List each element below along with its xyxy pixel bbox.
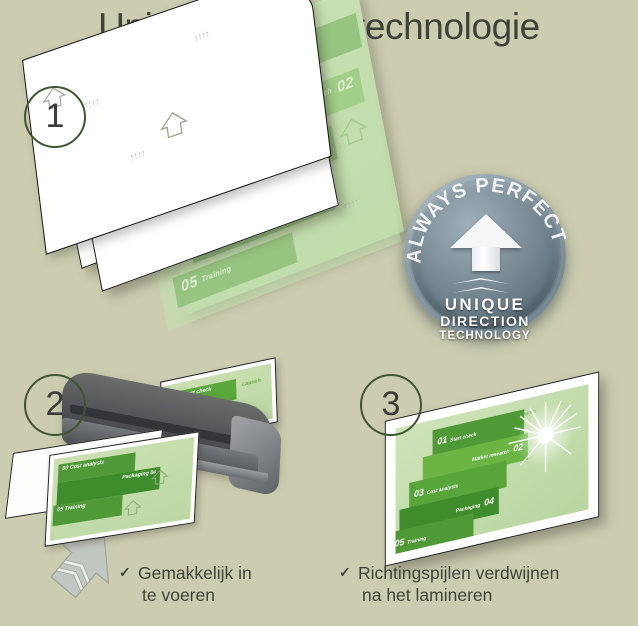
up-arrow-outline-icon — [151, 467, 170, 486]
task-label: Cost analysis — [427, 483, 458, 496]
up-arrow-outline-icon — [123, 498, 142, 517]
step-number-1: 1 — [24, 86, 86, 148]
direction-arrow-mark: ↑↑↑↑ — [342, 197, 359, 214]
arrow-head — [450, 214, 522, 248]
task-label: Training — [201, 264, 232, 284]
infographic-stage: Unieke richtingstechnologie Launch 01Sta… — [0, 0, 638, 626]
task-number: 05 — [396, 536, 405, 549]
task-number: 05 — [57, 506, 63, 513]
task-number: 03 — [414, 487, 424, 500]
caption-feed-easy: ✓ Gemakkelijk in te voeren — [138, 562, 318, 607]
task-label: Start check — [450, 432, 476, 444]
task-number: 01 — [437, 434, 447, 447]
task-number: 03 — [62, 465, 68, 472]
document-launch-label: Launch — [520, 403, 559, 422]
check-icon: ✓ — [339, 564, 351, 582]
badge-text-block: UNIQUE DIRECTION TECHNOLOGY — [404, 296, 566, 343]
caption-line-1: Gemakkelijk in — [138, 563, 252, 583]
task-label: Packaging — [122, 471, 149, 481]
up-arrow-icon — [450, 214, 522, 276]
task-label: Packaging — [456, 502, 480, 514]
caption-line-2: te voeren — [138, 584, 318, 606]
caption-arrows-disappear: ✓ Richtingspijlen verdwijnen na het lami… — [358, 562, 628, 607]
task-number: 05 — [180, 273, 200, 296]
always-perfect-badge: ALWAYS PERFECT! UNIQUE DIRECTION TECHNOL… — [404, 174, 566, 336]
task-number: 02 — [513, 441, 523, 454]
panel-step-1: Launch 01Start check Lorem ipsum dolor s… — [0, 50, 638, 350]
task-label: Cost analysis — [70, 459, 105, 471]
document-launch-label: Launch — [238, 373, 276, 395]
document-face: 03 Cost analysis Packaging 04 05 Trainin… — [50, 437, 195, 541]
step-number-3: 3 — [360, 374, 422, 436]
task-number: 04 — [484, 495, 494, 508]
caption-line-1: Richtingspijlen verdwijnen — [358, 563, 559, 583]
direction-arrow-mark: ↑↑↑↑ — [193, 29, 209, 45]
task-label: Training — [407, 535, 426, 546]
task-label: Training — [64, 503, 85, 512]
up-arrow-outline-icon — [337, 112, 370, 149]
laminated-document-face: 01Start check Market research02 03Cost a… — [396, 384, 589, 554]
up-arrow-outline-icon — [158, 106, 190, 142]
badge-line-1: UNIQUE — [404, 296, 566, 314]
task-number: 02 — [336, 73, 356, 96]
direction-arrow-mark: ↑↑↑↑ — [83, 96, 99, 112]
arrow-stem — [472, 247, 500, 271]
caption-line-2: na het lamineren — [358, 584, 628, 606]
badge-line-2: DIRECTION — [404, 314, 566, 330]
step-number-2: 2 — [24, 374, 86, 436]
direction-arrow-mark: ↑↑↑↑ — [129, 148, 145, 164]
badge-line-3: TECHNOLOGY — [404, 330, 566, 343]
